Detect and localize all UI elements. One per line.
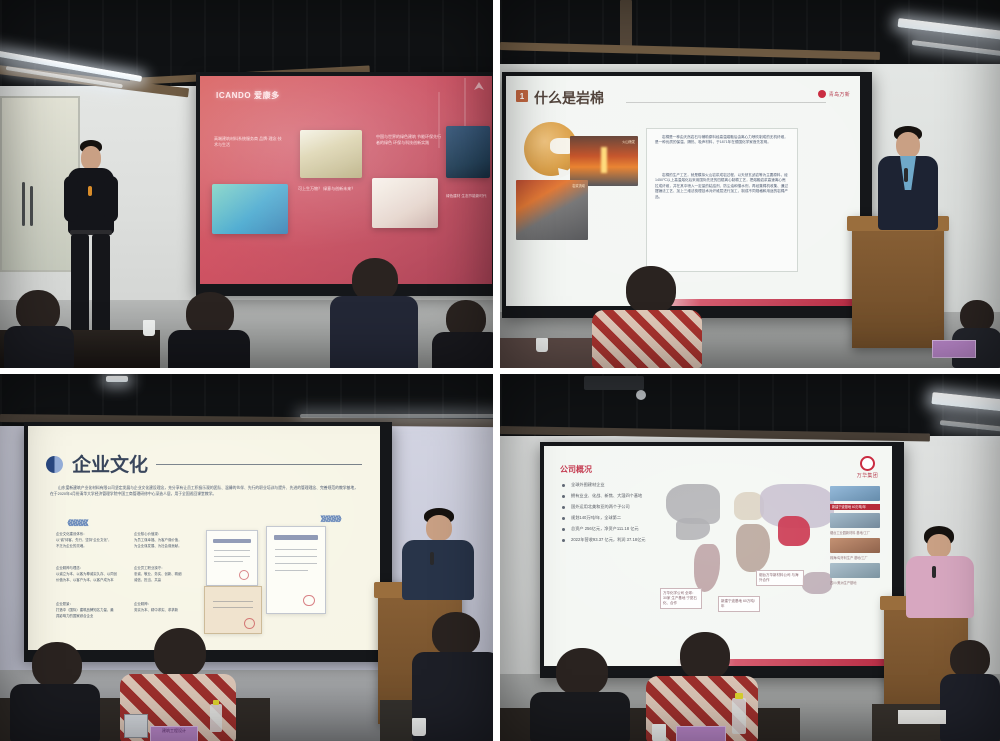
- audience-head: [32, 642, 82, 688]
- chevrons-right: 》》》》》》》》: [321, 514, 345, 524]
- audience-torso-plaid: [592, 310, 702, 368]
- map-africa: [736, 524, 770, 572]
- certificate-line: [275, 570, 308, 571]
- audience-member: [592, 266, 702, 368]
- certificate-header-band: [274, 535, 318, 540]
- brand-dot-icon: [818, 90, 826, 98]
- certificate-line: [214, 550, 250, 551]
- slide-text-box: 岩棉是一种由天然岩石与辅助原料经高温熔融后由离心力喷吹制成的无机纤维，是一种优质…: [646, 128, 798, 272]
- microphone: [88, 186, 92, 196]
- audience-member: [4, 290, 74, 368]
- audience-head: [556, 648, 608, 696]
- projection-screen-top-left[interactable]: ICANDO 爱康多 高端建筑材料系统服务商 品牌·理念·技术与生活 可上生万物…: [200, 76, 492, 284]
- slide-paragraph: 岩棉的生产工艺，就是模拟火山岩浆成岩过程，以天然玄武岩等为主要原料，经1450℃…: [655, 173, 789, 200]
- photo-panel-bottom-right[interactable]: Presenter at podium with slide titled 公司…: [500, 374, 1000, 741]
- site-thumbnail: [830, 513, 880, 528]
- volcano-caption: 火山喷发: [622, 139, 635, 144]
- decor-bird-icon: [474, 82, 484, 90]
- door-handle[interactable]: [22, 182, 25, 226]
- overview-bullet-list: 全球外图建材企业 拥有业业、化战、新焦、大湿四个基地 国外运用北美和亚的两个子公…: [562, 482, 645, 548]
- slide-title: 企业文化: [72, 450, 148, 477]
- lava-image: 岩浆流动: [516, 180, 588, 240]
- lava-caption: 岩浆流动: [572, 183, 585, 188]
- name-placard: [932, 340, 976, 358]
- certificate-line: [214, 561, 243, 562]
- lava-plume: [601, 147, 607, 173]
- drink-bottle: [732, 698, 746, 734]
- presenter-torso: [402, 540, 474, 600]
- audience-head: [680, 632, 730, 680]
- door-handle[interactable]: [30, 186, 33, 226]
- slide-intro-paragraph: 山东爱新建筑产业化材料有限公司坚定发展与企业文化建设理念，充分享有让员工积极乐观…: [50, 486, 360, 497]
- brand-label: 万华集团: [857, 472, 878, 479]
- presenter-head: [81, 146, 101, 170]
- overview-bullet: 全球外图建材企业: [562, 482, 645, 488]
- photo-panel-bottom-left[interactable]: Speaker at podium with slide titled 企业文化…: [0, 374, 493, 741]
- bottle-cap: [213, 700, 220, 705]
- map-south-america: [694, 544, 720, 592]
- presenter-leg: [92, 234, 110, 336]
- slide-cover: ICANDO 爱康多 高端建筑材料系统服务商 品牌·理念·技术与生活 可上生万物…: [200, 76, 492, 284]
- projector-lens: [636, 390, 646, 400]
- ceiling-beam: [620, 0, 632, 50]
- slide-number-badge: 1: [516, 90, 528, 102]
- slide-image-card: [212, 184, 288, 234]
- certificate-line: [275, 556, 317, 557]
- water-cup: [143, 320, 155, 336]
- placard-text: [677, 727, 725, 733]
- presenter-head: [426, 515, 452, 541]
- audience-torso: [10, 684, 100, 741]
- microphone: [932, 566, 936, 578]
- bottle-cap: [735, 693, 743, 699]
- certificate-line: [213, 601, 253, 602]
- audience-torso: [330, 296, 418, 368]
- slide-title-rule: [626, 102, 826, 103]
- presenter-head: [927, 534, 951, 558]
- presenter-arm: [64, 176, 78, 222]
- slide-title: 公司概况: [560, 464, 592, 475]
- overview-bullet: 总资产 256亿元，净资产111.18 亿元: [562, 526, 645, 532]
- placard-text: [933, 341, 975, 347]
- audience-torso: [168, 330, 250, 368]
- water-cup: [536, 338, 548, 352]
- podium: [852, 216, 944, 348]
- slide-image-card: [446, 126, 490, 178]
- audience-head: [154, 628, 206, 678]
- microphone: [904, 168, 908, 182]
- map-note: 烟台万华新材料公司 与海外合作: [756, 570, 804, 586]
- map-china-highlight: [778, 516, 810, 546]
- paper-document: [898, 710, 946, 724]
- projection-screen-frame[interactable]: 企业文化 山东爱新建筑产业化材料有限公司坚定发展与企业文化建设理念，充分享有让员…: [24, 422, 392, 662]
- audience-torso: [4, 326, 74, 368]
- presenter-top-right[interactable]: [872, 126, 944, 230]
- slide-title-rule: [156, 464, 362, 465]
- decor-ray: [438, 92, 440, 148]
- site-thumbnail-column: 新建宁波基地 60万吨/年 烟台工业园新材料 基地/工厂 珠海/匈牙利生产 基地…: [830, 486, 880, 586]
- audience-head: [626, 266, 676, 314]
- certificate-seal: [239, 570, 249, 580]
- slide-brand-logo: 青岛万新: [818, 90, 850, 98]
- name-placard: [676, 726, 726, 741]
- photo-panel-top-right[interactable]: Speaker at wooden podium presenting the …: [500, 0, 1000, 368]
- name-placard: 建筑工程设计: [150, 726, 198, 741]
- map-note: 新建宁波基地 60万吨/年: [718, 596, 760, 612]
- audience-torso: [940, 674, 1000, 741]
- slide-image-card: [372, 178, 438, 228]
- slide-blurb: 中国与世界的绿色建筑 节能环保先行者的绿色 环保与科技创新实践: [376, 134, 442, 146]
- brand-label: 青岛万新: [829, 91, 850, 98]
- brand-ring-icon: [860, 456, 875, 471]
- audience-member: [432, 300, 493, 368]
- site-thumbnail-caption: 烟台工业园新材料 基地/工厂: [830, 531, 880, 535]
- culture-line: 具影响力的国家综合企业: [56, 614, 160, 620]
- certificate-line: [275, 563, 317, 564]
- audience-torso: [432, 332, 493, 368]
- half-moon-icon: [46, 456, 63, 473]
- presenter-arm: [104, 176, 118, 222]
- audience-member: [940, 640, 1000, 741]
- audience-torso: [530, 692, 630, 741]
- certificate-line: [275, 549, 317, 550]
- audience-head: [950, 640, 990, 678]
- certificate-seal: [244, 618, 255, 629]
- projection-screen-bottom-left[interactable]: 企业文化 山东爱新建筑产业化材料有限公司坚定发展与企业文化建设理念，充分享有让员…: [28, 426, 380, 650]
- presenter-head: [896, 132, 920, 158]
- presenter-bottom-left[interactable]: [398, 508, 478, 600]
- rockwool-fiber: [550, 138, 572, 154]
- chevrons-left: 《《《《《《《《: [64, 518, 88, 528]
- world-map: 万华化学公司 全球：30家 生产基地 宁夏石化、合作 新建宁波基地 60万吨/年…: [660, 476, 846, 626]
- slide-logo: ICANDO 爱康多: [216, 90, 280, 101]
- drink-bottle: [210, 704, 222, 732]
- overview-bullet: 规划140万吨/年，全球第二: [562, 515, 645, 521]
- certificate-2: [266, 526, 326, 614]
- slide-blurb: 可上生万物？ 绿意与创新未来？: [298, 186, 366, 192]
- slide-corporate-culture: 企业文化 山东爱新建筑产业化材料有限公司坚定发展与企业文化建设理念，充分享有让员…: [28, 426, 380, 650]
- audience-head: [432, 612, 480, 656]
- audience-member: [168, 292, 250, 368]
- projector: [584, 376, 644, 390]
- map-usa: [676, 518, 710, 540]
- presenter-bottom-right[interactable]: [904, 526, 978, 618]
- slide-paragraph: 岩棉是一种由天然岩石与辅助原料经高温熔融后由离心力喷吹制成的无机纤维，是一种优质…: [655, 135, 789, 146]
- microphone: [430, 552, 434, 565]
- certificate-seal: [303, 595, 314, 606]
- presenter-torso: [906, 556, 974, 618]
- photo-collage: Presenter in black shirt standing beside…: [0, 0, 1000, 741]
- certificate-header-band: [213, 539, 251, 543]
- map-australia: [802, 572, 832, 594]
- audience-member: [530, 648, 630, 741]
- tablet-device: [124, 714, 148, 738]
- site-thumbnail: [830, 563, 880, 578]
- audience-member: [10, 642, 100, 741]
- certificate-line: [214, 556, 250, 557]
- site-thumbnail-caption: 珠海/匈牙利生产 基地/工厂: [830, 556, 880, 560]
- site-thumbnail-caption: 四川/美洲生产基地: [830, 581, 880, 585]
- water-cup: [412, 718, 426, 736]
- decor-ray: [464, 78, 466, 144]
- slide-image-card: [300, 130, 362, 178]
- slide-brand-logo: 万华集团: [857, 456, 878, 479]
- overview-bullet: 国外运用北美和亚的两个子公司: [562, 504, 645, 510]
- certificate-line: [213, 607, 253, 608]
- volcano-image: 火山喷发: [570, 136, 638, 186]
- slide-title: 什么是岩棉: [534, 88, 604, 108]
- ceiling-light: [300, 414, 493, 418]
- slide-blurb: 高端建筑材料系统服务商 品牌·理念·技术与生活: [214, 136, 284, 148]
- slide-blurb: 绿色建材 生态节能新时代: [446, 194, 490, 200]
- overview-bullet: 2022年营收93.37 亿元，利润 37.18亿元: [562, 537, 645, 543]
- overview-bullet: 拥有业业、化战、新焦、大湿四个基地: [562, 493, 645, 499]
- photo-panel-top-left[interactable]: Presenter in black shirt standing beside…: [0, 0, 493, 368]
- site-thumbnail: [830, 486, 880, 501]
- placard-text: 建筑工程设计: [151, 727, 197, 733]
- audience-member: [330, 258, 418, 368]
- certificate-1: [206, 530, 258, 586]
- water-cup: [652, 724, 666, 741]
- map-note: 万华化学公司 全球：30家 生产基地 宁夏石化、合作: [660, 588, 702, 609]
- site-thumbnail-caption: 新建宁波基地 60万吨/年: [830, 504, 880, 510]
- site-thumbnail: [830, 538, 880, 553]
- ceiling-light: [106, 376, 128, 382]
- certificate-3: [204, 586, 262, 634]
